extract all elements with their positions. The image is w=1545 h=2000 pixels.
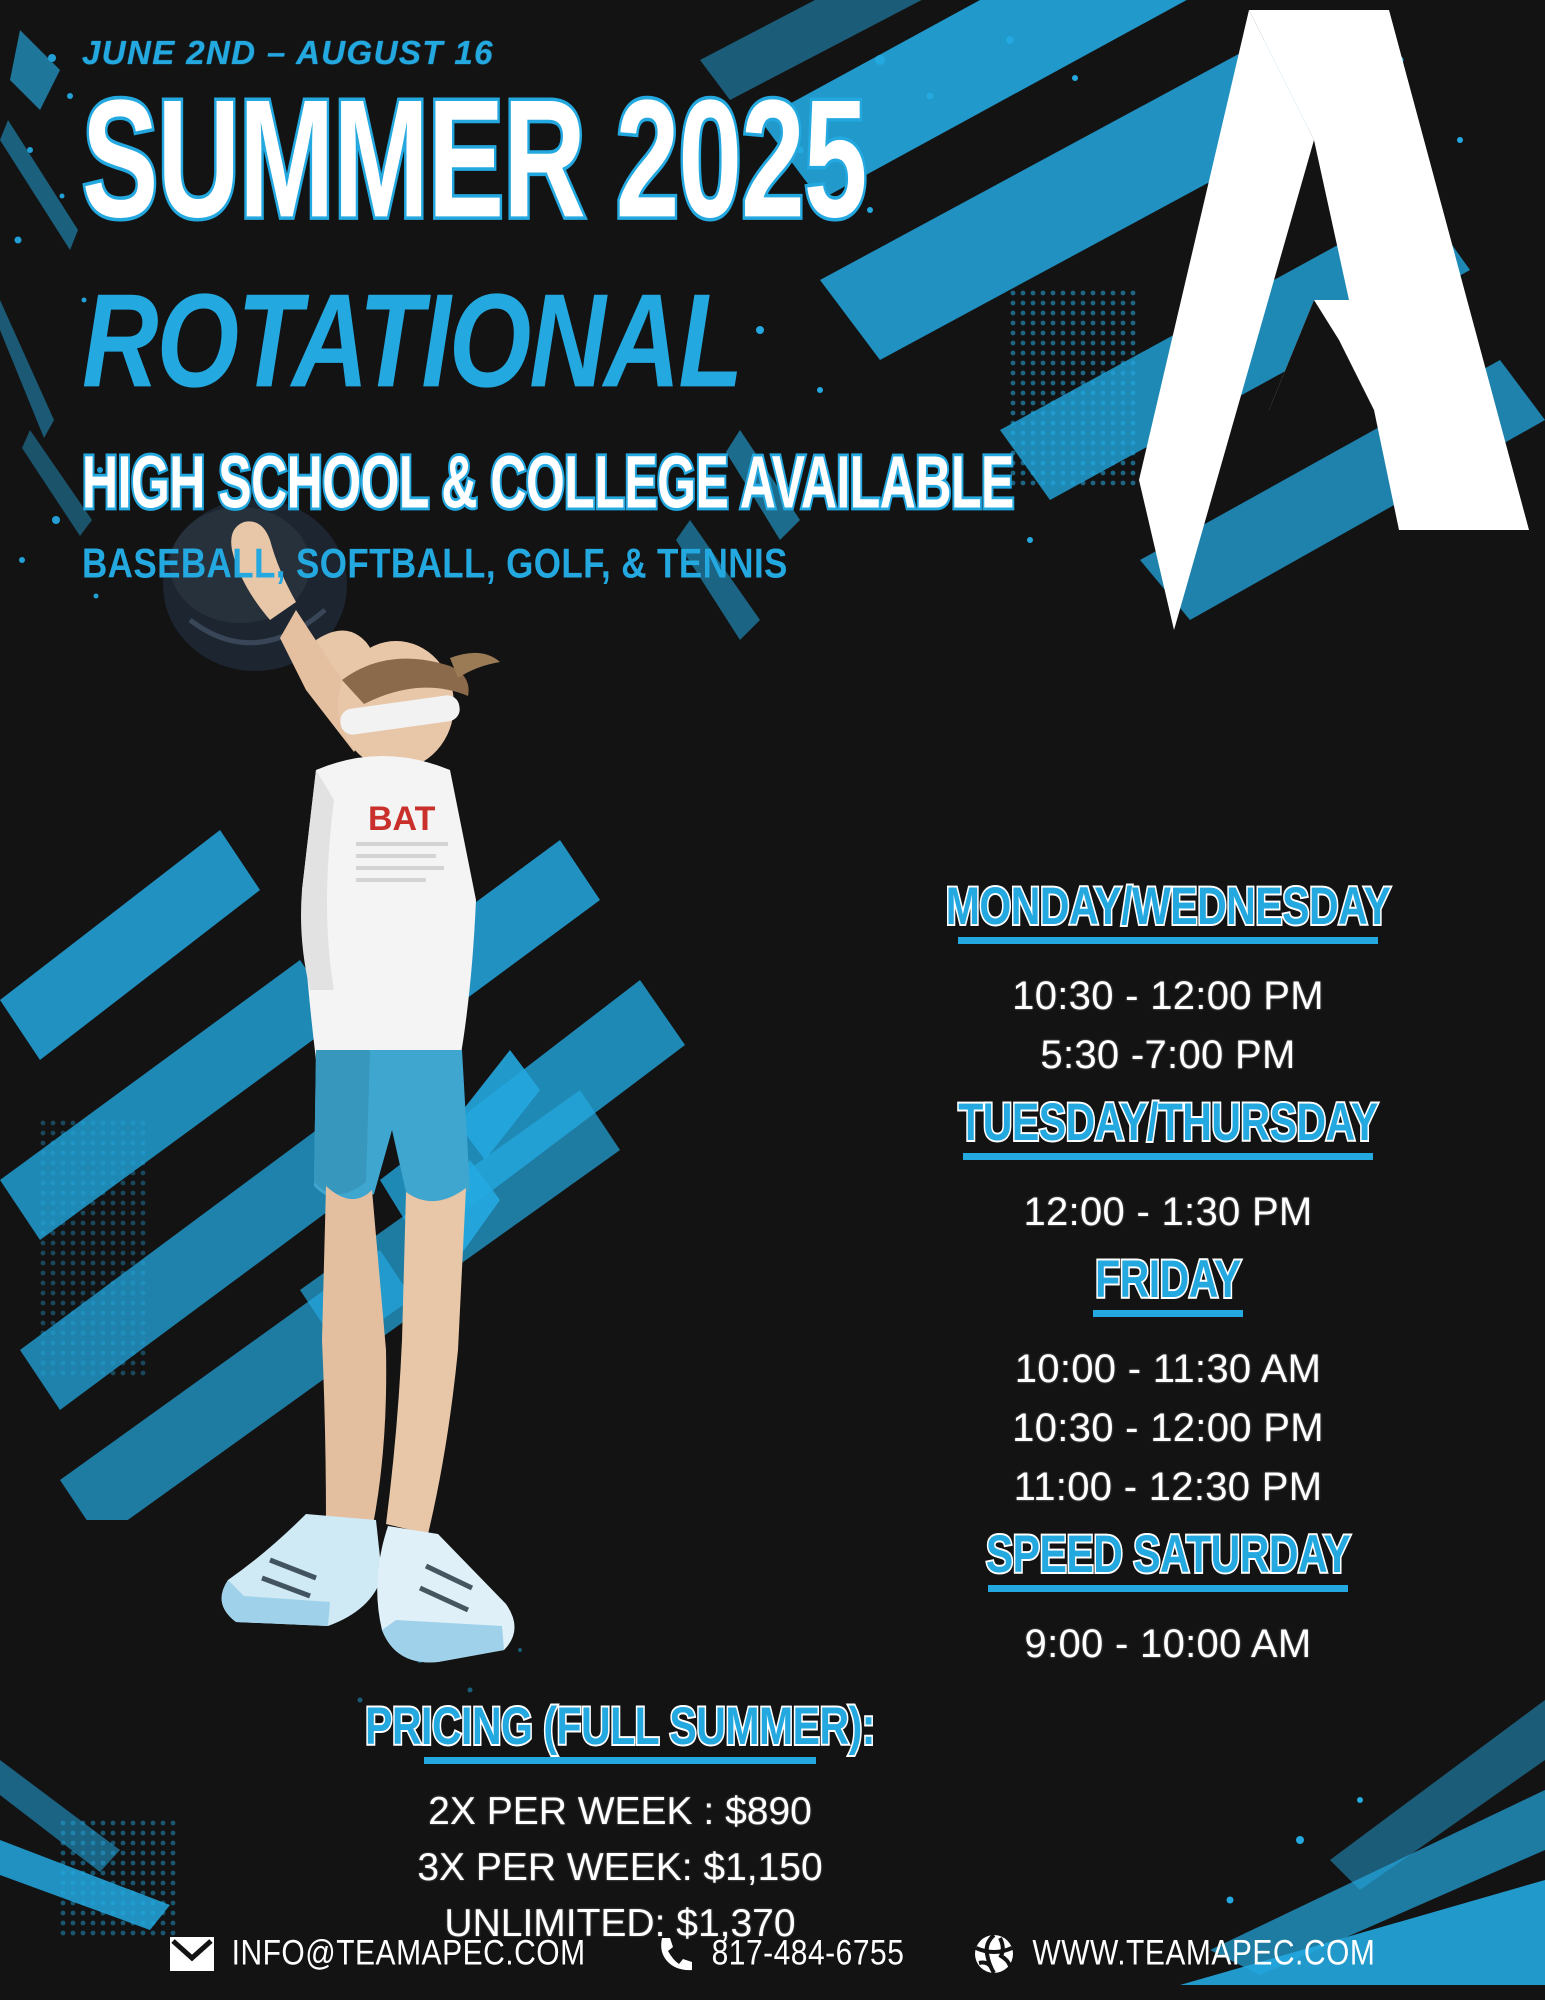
time-slot: 10:30 - 12:00 PM — [863, 1406, 1473, 1451]
envelope-icon — [170, 1937, 214, 1971]
day-underline — [963, 1153, 1373, 1160]
contact-phone[interactable]: 817-484-6755 — [656, 1935, 905, 1973]
phone-icon — [656, 1935, 694, 1973]
schedule-group-header: SPEED SATURDAY — [863, 1528, 1473, 1592]
pricing-row: 3X PER WEEK: $1,150 — [300, 1846, 940, 1890]
phone-text: 817-484-6755 — [712, 1934, 905, 1973]
day-label-friday: FRIDAY — [1095, 1253, 1241, 1306]
pricing-heading: PRICING (FULL SUMMER): — [365, 1700, 875, 1753]
contact-footer: INFO@TEAMAPEC.COM 817-484-6755 WWW.TEAMA… — [0, 1934, 1545, 1974]
logo-a-left-stroke — [1139, 10, 1314, 630]
time-slot: 5:30 -7:00 PM — [863, 1033, 1473, 1078]
email-text: INFO@TEAMAPEC.COM — [232, 1934, 586, 1973]
schedule-group-header: FRIDAY — [863, 1253, 1473, 1317]
subtitle-availability: HIGH SCHOOL & COLLEGE AVAILABLE — [82, 441, 869, 526]
pricing-underline — [424, 1757, 816, 1764]
pricing-block: PRICING (FULL SUMMER): 2X PER WEEK : $89… — [300, 1700, 940, 1958]
poster-canvas: JUNE 2ND – AUGUST 16 SUMMER 2025 ROTATIO… — [0, 0, 1545, 2000]
pricing-row: 2X PER WEEK : $890 — [300, 1790, 940, 1834]
logo-a-right-stroke — [1249, 10, 1529, 530]
apec-logo — [1099, 10, 1529, 630]
contact-email[interactable]: INFO@TEAMAPEC.COM — [170, 1937, 586, 1971]
sports-list: BASEBALL, SOFTBALL, GOLF, & TENNIS — [82, 541, 902, 588]
schedule-block: MONDAY/WEDNESDAY 10:30 - 12:00 PM 5:30 -… — [863, 880, 1473, 1681]
day-label-speed-saturday: SPEED SATURDAY — [986, 1528, 1350, 1581]
title-rotational: ROTATIONAL — [82, 266, 918, 418]
schedule-group-header: MONDAY/WEDNESDAY — [863, 880, 1473, 944]
time-slot: 10:30 - 12:00 PM — [863, 974, 1473, 1019]
athlete-photo: BAT — [120, 470, 590, 1760]
time-slot: 12:00 - 1:30 PM — [863, 1190, 1473, 1235]
time-slot: 11:00 - 12:30 PM — [863, 1465, 1473, 1510]
contact-website[interactable]: WWW.TEAMAPEC.COM — [974, 1934, 1375, 1974]
day-underline — [1093, 1310, 1243, 1317]
time-slot: 9:00 - 10:00 AM — [863, 1622, 1473, 1667]
day-label-monday-wednesday: MONDAY/WEDNESDAY — [946, 880, 1391, 933]
day-label-tuesday-thursday: TUESDAY/THURSDAY — [958, 1096, 1378, 1149]
svg-text:BAT: BAT — [368, 800, 436, 838]
pricing-header: PRICING (FULL SUMMER): — [300, 1700, 940, 1764]
time-slot: 10:00 - 11:30 AM — [863, 1347, 1473, 1392]
header-block: JUNE 2ND – AUGUST 16 SUMMER 2025 ROTATIO… — [82, 34, 902, 581]
day-underline — [958, 937, 1378, 944]
schedule-group-header: TUESDAY/THURSDAY — [863, 1096, 1473, 1160]
title-summer: SUMMER 2025 — [82, 80, 877, 239]
website-text: WWW.TEAMAPEC.COM — [1032, 1934, 1375, 1973]
globe-icon — [974, 1934, 1014, 1974]
day-underline — [988, 1585, 1348, 1592]
